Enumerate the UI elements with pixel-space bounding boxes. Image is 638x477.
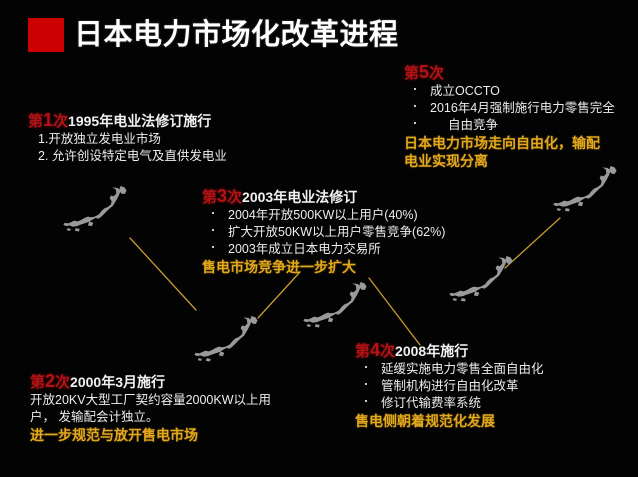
japan-map-5: [553, 166, 616, 212]
page-title: 日本电力市场化改革进程: [74, 18, 399, 52]
reform-1-index: 第1次: [28, 113, 68, 130]
reform-1-heading: 第1次1995年电业法修订施行: [28, 112, 227, 130]
reform-4-list: 延缓实施电力零售全面自由化 管制机构进行自由化改革 修订代输费率系统: [355, 361, 544, 412]
list-item: 管制机构进行自由化改革: [355, 378, 544, 395]
list-item: 2003年成立日本电力交易所: [202, 241, 445, 258]
slide-title-row: 日本电力市场化改革进程: [28, 18, 399, 52]
reform-4-index: 第4次: [355, 343, 395, 360]
reform-3-heading: 第3次2003年电业法修订: [202, 188, 445, 206]
connector-1-2: [130, 238, 196, 310]
japan-map-1: [63, 186, 126, 232]
connector-4-5: [505, 218, 560, 268]
reform-block-4: 第4次2008年施行 延缓实施电力零售全面自由化 管制机构进行自由化改革 修订代…: [355, 342, 544, 430]
list-item: 成立OCCTO: [404, 83, 615, 100]
reform-4-heading: 第4次2008年施行: [355, 342, 544, 360]
reform-2-heading: 第2次2000年3月施行: [30, 373, 271, 391]
reform-5-index: 第5次: [404, 65, 444, 82]
connector-2-3: [258, 272, 300, 318]
list-item-continuation: 自由竞争: [404, 117, 615, 134]
list-item: 2004年开放500KW以上用户(40%): [202, 207, 445, 224]
reform-block-2: 第2次2000年3月施行 开放20KV大型工厂契约容量2000KW以上用 户， …: [30, 373, 271, 444]
reform-1-list: 1.开放独立发电业市场 2. 允许创设特定电气及直供发电业: [28, 131, 227, 165]
list-item: 2. 允许创设特定电气及直供发电业: [28, 148, 227, 165]
slide-canvas: 日本电力市场化改革进程 第1次1995年电业法修订施行 1.开放独立发电业市场 …: [0, 0, 638, 477]
japan-map-2: [194, 316, 257, 362]
reform-1-title: 1995年电业法修订施行: [68, 113, 211, 129]
reform-5-heading: 第5次: [404, 64, 615, 82]
reform-3-title: 2003年电业法修订: [242, 189, 357, 205]
reform-4-summary: 售电侧朝着规范化发展: [355, 412, 544, 430]
connector-3-4: [369, 278, 420, 345]
list-item: 延缓实施电力零售全面自由化: [355, 361, 544, 378]
list-item: 修订代输费率系统: [355, 395, 544, 412]
reform-2-list: 开放20KV大型工厂契约容量2000KW以上用 户， 发输配会计独立。: [30, 392, 271, 426]
reform-5-summary-line-2: 电业实现分离: [404, 152, 615, 170]
reform-3-index: 第3次: [202, 189, 242, 206]
reform-block-5: 第5次 成立OCCTO 2016年4月强制施行电力零售完全 自由竞争 日本电力市…: [404, 64, 615, 170]
reform-5-summary-line-1: 日本电力市场走向自由化，输配: [404, 134, 615, 152]
list-item: 开放20KV大型工厂契约容量2000KW以上用: [30, 392, 271, 409]
reform-5-list: 成立OCCTO 2016年4月强制施行电力零售完全 自由竞争: [404, 83, 615, 134]
reform-4-title: 2008年施行: [395, 343, 468, 359]
list-item: 户， 发输配会计独立。: [30, 409, 271, 426]
japan-map-3: [303, 282, 366, 328]
reform-block-1: 第1次1995年电业法修订施行 1.开放独立发电业市场 2. 允许创设特定电气及…: [28, 112, 227, 165]
reform-block-3: 第3次2003年电业法修订 2004年开放500KW以上用户(40%) 扩大开放…: [202, 188, 445, 276]
title-square-mark: [28, 18, 64, 52]
list-item: 2016年4月强制施行电力零售完全: [404, 100, 615, 117]
reform-2-summary: 进一步规范与放开售电市场: [30, 426, 271, 444]
list-item: 扩大开放50KW以上用户零售竞争(62%): [202, 224, 445, 241]
reform-3-summary: 售电市场竞争进一步扩大: [202, 258, 445, 276]
reform-2-title: 2000年3月施行: [70, 374, 165, 390]
reform-3-list: 2004年开放500KW以上用户(40%) 扩大开放50KW以上用户零售竞争(6…: [202, 207, 445, 258]
reform-2-index: 第2次: [30, 374, 70, 391]
japan-map-4: [449, 256, 512, 302]
list-item: 1.开放独立发电业市场: [28, 131, 227, 148]
